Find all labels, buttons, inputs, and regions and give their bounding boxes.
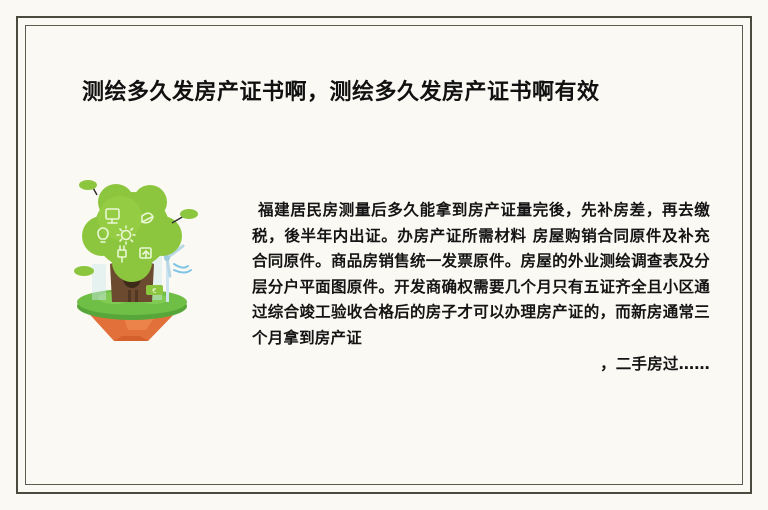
page-root: 测绘多久发房产证书啊，测绘多久发房产证书啊有效 xyxy=(0,0,768,510)
price-tag-icon: € xyxy=(146,285,163,295)
article-body: 福建居民房测量后多久能拿到房产证量完後，先补房差，再去缴税，後半年内出证。办房产… xyxy=(252,198,710,377)
article-paragraph-tail: ，二手房过…… xyxy=(252,352,710,378)
eco-tree-illustration: € xyxy=(62,178,202,343)
svg-text:€: € xyxy=(152,287,156,295)
page-title: 测绘多久发房产证书啊，测绘多久发房产证书啊有效 xyxy=(82,76,692,110)
article-paragraph: 福建居民房测量后多久能拿到房产证量完後，先补房差，再去缴税，後半年内出证。办房产… xyxy=(252,201,710,347)
